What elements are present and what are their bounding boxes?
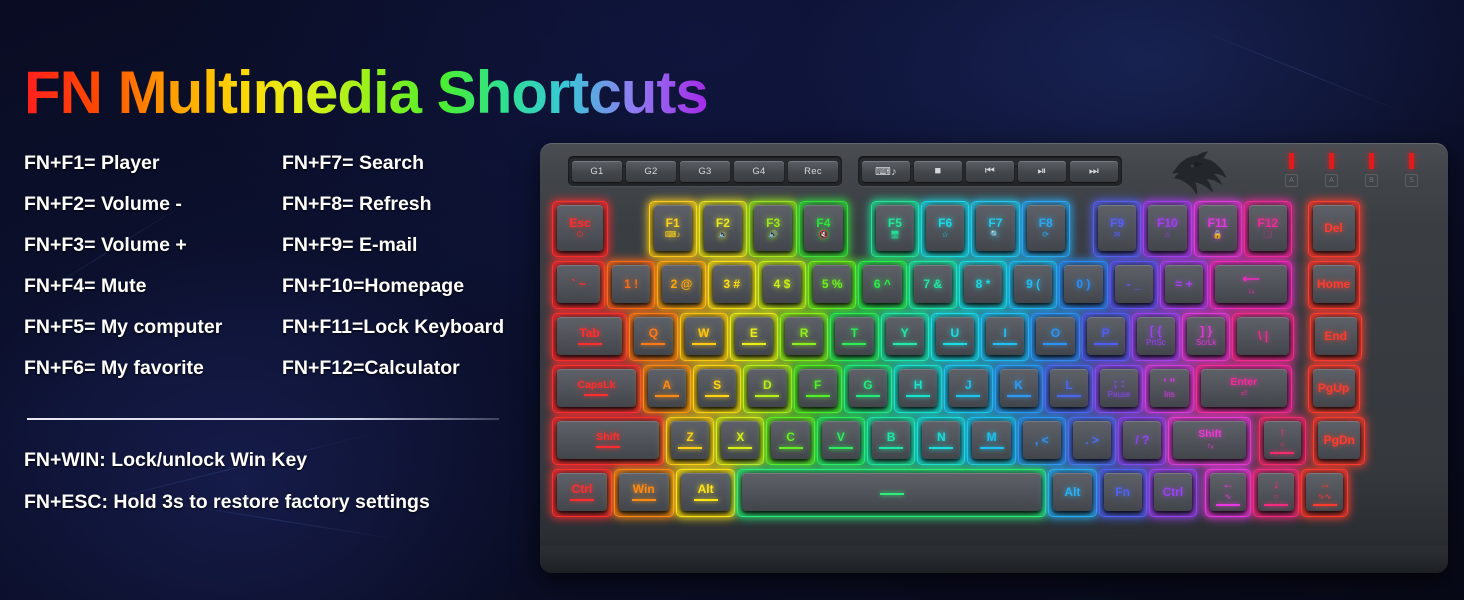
key-ctrl[interactable]: Ctrl xyxy=(552,469,612,517)
key-w[interactable]: W xyxy=(680,313,728,361)
key-z[interactable]: Z xyxy=(666,417,714,465)
scroll-lock-led: B xyxy=(1365,153,1378,187)
macro-key-g1[interactable]: G1 xyxy=(572,161,622,182)
home-row: CapsLkASDFGHJKL; :Pause' "InsEnter⏎PgUp xyxy=(552,365,1438,413)
key-h[interactable]: H xyxy=(894,365,942,413)
key-underline xyxy=(584,394,608,396)
key-label: W xyxy=(698,327,709,340)
key-sublabel: ∿∿ xyxy=(1318,493,1331,501)
shortcut-item: FN+F6= My favorite xyxy=(24,357,204,379)
number-row: ` ~1 !2 @3 #4 $5 %6 ^7 &8 *9 (0 )- _= +⟵… xyxy=(552,261,1438,309)
key-space[interactable]: . > xyxy=(1068,417,1116,465)
keycap: Alt xyxy=(681,473,731,511)
key-label: Shift xyxy=(1198,429,1221,440)
key-underline xyxy=(1094,343,1118,345)
led-label: B xyxy=(1365,174,1378,187)
keycap: E xyxy=(735,317,773,355)
key-underline xyxy=(1270,452,1294,454)
keycap: F10⌂ xyxy=(1148,205,1186,251)
key-fn[interactable]: Fn xyxy=(1099,469,1147,517)
key-f[interactable]: F xyxy=(794,365,842,413)
function-row: Esc⏻F1⌨♪F2🔉F3🔊F4🔇F5🖥F6☆F7🔍F8⟳F9✉F10⌂F11🔒… xyxy=(552,201,1438,257)
key-underline xyxy=(578,343,602,345)
key-enter[interactable]: Enter⏎ xyxy=(1196,365,1293,413)
keycap: A xyxy=(648,369,686,407)
key-label: F3 xyxy=(766,217,780,230)
key-f3[interactable]: F3🔊 xyxy=(749,201,797,257)
macro-key-cluster: G1G2G3G4Rec xyxy=(568,156,842,186)
key-label: D xyxy=(763,379,772,392)
key-sublabel: ☆ xyxy=(942,231,949,239)
key-label: 3 # xyxy=(723,278,740,291)
key-sublabel: 🔒 xyxy=(1213,231,1223,239)
key-underline xyxy=(1313,504,1337,506)
key-x[interactable]: X xyxy=(716,417,764,465)
macro-key-rec[interactable]: Rec xyxy=(788,161,838,182)
next-track-icon[interactable]: ⏭ xyxy=(1070,161,1118,182)
shortcut-row: FN+F6= My favorite FN+F12=Calculator xyxy=(24,357,544,398)
keycap: 6 ^ xyxy=(863,265,901,303)
key-space[interactable]: , < xyxy=(1018,417,1066,465)
key-t[interactable]: T xyxy=(830,313,878,361)
key-underline xyxy=(678,447,702,449)
key-home[interactable]: Home xyxy=(1308,261,1360,309)
keycap: 4 $ xyxy=(763,265,801,303)
key-l[interactable]: L xyxy=(1045,365,1093,413)
keycap: W xyxy=(685,317,723,355)
keycap: F11🔒 xyxy=(1199,205,1237,251)
key-label: L xyxy=(1065,379,1072,392)
keycap: N xyxy=(922,421,960,459)
key-0[interactable]: 0 ) xyxy=(1059,261,1107,309)
key-underline xyxy=(596,446,620,448)
shortcut-row: FN+F1= Player FN+F7= Search xyxy=(24,152,544,193)
key-label: I xyxy=(1003,327,1006,340)
keycap: Enter⏎ xyxy=(1201,369,1288,407)
key-alt[interactable]: Alt xyxy=(676,469,736,517)
key-sublabel: ⏎ xyxy=(1240,390,1247,398)
keycap: M xyxy=(972,421,1010,459)
key-m[interactable]: M xyxy=(967,417,1015,465)
key-label: Y xyxy=(901,327,909,340)
key-underline xyxy=(742,343,766,345)
key-s[interactable]: S xyxy=(693,365,741,413)
key-label: ↓ xyxy=(1273,478,1279,491)
key-f8[interactable]: F8⟳ xyxy=(1022,201,1070,257)
key-c[interactable]: C xyxy=(766,417,814,465)
keycap: F9✉ xyxy=(1098,205,1136,251)
key-label: Tab xyxy=(579,327,599,340)
key-label: Home xyxy=(1317,278,1350,291)
keycap: PgDn xyxy=(1318,421,1360,459)
key-label: ← xyxy=(1222,478,1234,491)
keycap: Z xyxy=(671,421,709,459)
keycap: F2🔉 xyxy=(704,205,742,251)
shift-row: ShiftZXCVBNM, <. >/ ?Shift↑ₓ↑○PgDn xyxy=(552,417,1438,465)
key-f9[interactable]: F9✉ xyxy=(1093,201,1141,257)
key-matrix: Esc⏻F1⌨♪F2🔉F3🔊F4🔇F5🖥F6☆F7🔍F8⟳F9✉F10⌂F11🔒… xyxy=(552,201,1438,543)
key-label: Alt xyxy=(698,483,714,496)
key-label: F1 xyxy=(666,217,680,230)
key-label: ↑ xyxy=(1279,426,1285,439)
key-label: Enter xyxy=(1230,377,1257,388)
key-capslk[interactable]: CapsLk xyxy=(552,365,641,413)
key-j[interactable]: J xyxy=(944,365,992,413)
keycap: Q xyxy=(634,317,672,355)
macro-key-g3[interactable]: G3 xyxy=(680,161,730,182)
keycap: Tab xyxy=(557,317,622,355)
shortcut-item: FN+F10=Homepage xyxy=(282,275,464,297)
keycap: R xyxy=(785,317,823,355)
key-label: 9 ( xyxy=(1026,278,1040,291)
key-f10[interactable]: F10⌂ xyxy=(1143,201,1191,257)
keycap: = + xyxy=(1165,265,1203,303)
key-underline xyxy=(1264,504,1288,506)
key-label: / ? xyxy=(1135,434,1149,447)
key-9[interactable]: 9 ( xyxy=(1009,261,1057,309)
key-label: K xyxy=(1014,379,1023,392)
key-u[interactable]: U xyxy=(931,313,979,361)
led-bar xyxy=(1369,153,1374,169)
dragon-logo xyxy=(1160,149,1252,197)
key-label: P xyxy=(1102,327,1110,340)
key-sublabel: Pause xyxy=(1108,391,1131,399)
key-label: [ { xyxy=(1150,325,1162,338)
key-b[interactable]: B xyxy=(867,417,915,465)
keycap: O xyxy=(1036,317,1074,355)
key-label: E xyxy=(750,327,758,340)
keycap: 0 ) xyxy=(1064,265,1102,303)
key-underline xyxy=(641,343,665,345)
key-sublabel: ∿ xyxy=(1225,493,1232,501)
key-label: Fn xyxy=(1115,486,1130,499)
keycap: S xyxy=(698,369,736,407)
key-k[interactable]: K xyxy=(995,365,1043,413)
key-pgdn[interactable]: PgDn xyxy=(1313,417,1365,465)
key-sublabel: ↑ₓ xyxy=(1207,442,1214,450)
key-underline xyxy=(993,343,1017,345)
key-1[interactable]: 1 ! xyxy=(607,261,655,309)
key-label: ; : xyxy=(1113,377,1124,390)
caps-lock-led: A xyxy=(1325,153,1338,187)
key-underline xyxy=(893,343,917,345)
keycap: V xyxy=(822,421,860,459)
key-space[interactable]: / ? xyxy=(1118,417,1166,465)
key-sublabel: ⌂ xyxy=(1165,231,1170,239)
shortcut-item: FN+F7= Search xyxy=(282,152,424,174)
key-d[interactable]: D xyxy=(743,365,791,413)
shortcut-item: FN+F9= E-mail xyxy=(282,234,417,256)
keycap: Win xyxy=(619,473,669,511)
key-label: H xyxy=(914,379,923,392)
key-label: F4 xyxy=(816,217,830,230)
keycap: Ctrl xyxy=(557,473,607,511)
keycap: ' "Ins xyxy=(1150,369,1188,407)
bottom-row: CtrlWinAltAltFnCtrl←∿↓○→∿∿ xyxy=(552,469,1438,517)
key-label: ` ~ xyxy=(571,278,585,291)
keycap: 9 ( xyxy=(1014,265,1052,303)
key-space[interactable]: ] }ScrLk xyxy=(1182,313,1230,361)
key-label: Ctrl xyxy=(1163,486,1184,499)
key-f5[interactable]: F5🖥 xyxy=(871,201,919,257)
key-y[interactable]: Y xyxy=(881,313,929,361)
key-f7[interactable]: F7🔍 xyxy=(971,201,1019,257)
key-underline xyxy=(692,343,716,345)
key-underline xyxy=(956,395,980,397)
key-space[interactable]: [ {PrtSc xyxy=(1132,313,1180,361)
keycap: \ | xyxy=(1237,317,1289,355)
keycap: ; :Pause xyxy=(1100,369,1138,407)
key-label: R xyxy=(800,327,809,340)
key-f2[interactable]: F2🔉 xyxy=(699,201,747,257)
keycap: ` ~ xyxy=(557,265,600,303)
key-label: A xyxy=(663,379,672,392)
key-label: X xyxy=(736,431,744,444)
key-g[interactable]: G xyxy=(844,365,892,413)
key-sublabel: ⏻ xyxy=(577,231,583,239)
led-bar xyxy=(1409,153,1414,169)
key-sublabel: ○ xyxy=(1280,441,1285,449)
keycap: . > xyxy=(1073,421,1111,459)
key-underline xyxy=(1216,504,1240,506)
key-a[interactable]: A xyxy=(643,365,691,413)
keycap: ] }ScrLk xyxy=(1187,317,1225,355)
key-underline xyxy=(779,447,803,449)
shortcut-item: FN+F5= My computer xyxy=(24,316,222,338)
keycap: F12🗔 xyxy=(1249,205,1287,251)
key-shift[interactable]: Shift↑ₓ xyxy=(1168,417,1251,465)
keycap: X xyxy=(721,421,759,459)
key-label: S xyxy=(713,379,721,392)
key-tab[interactable]: Tab xyxy=(552,313,627,361)
keycap: H xyxy=(899,369,937,407)
key-underline xyxy=(943,343,967,345)
keycap: Esc⏻ xyxy=(557,205,603,251)
led-label: A xyxy=(1325,174,1338,187)
key-underline xyxy=(906,395,930,397)
key-label: - _ xyxy=(1127,278,1141,291)
key-label: → xyxy=(1319,478,1331,491)
keycap: F1⌨♪ xyxy=(654,205,692,251)
key-sublabel: PrtSc xyxy=(1146,339,1166,347)
num-lock-led: A xyxy=(1285,153,1298,187)
keycap: 7 & xyxy=(914,265,952,303)
shortcut-list: FN+F1= Player FN+F7= Search FN+F2= Volum… xyxy=(24,152,544,398)
keycap: F8⟳ xyxy=(1027,205,1065,251)
key-3[interactable]: 3 # xyxy=(708,261,756,309)
keycap: F6☆ xyxy=(926,205,964,251)
key-pgup[interactable]: PgUp xyxy=(1308,365,1360,413)
key-label: 1 ! xyxy=(624,278,638,291)
key-label: Del xyxy=(1324,222,1343,235)
key-q[interactable]: Q xyxy=(629,313,677,361)
key-8[interactable]: 8 * xyxy=(959,261,1007,309)
key-space[interactable]: ←∿ xyxy=(1205,469,1251,517)
key-label: J xyxy=(965,379,972,392)
key-label: 4 $ xyxy=(774,278,791,291)
key-underline xyxy=(929,447,953,449)
key-sublabel: Ins xyxy=(1164,391,1175,399)
key-f1[interactable]: F1⌨♪ xyxy=(649,201,697,257)
key-sublabel: 🔊 xyxy=(768,231,778,239)
key-label: F2 xyxy=(716,217,730,230)
led-label: S xyxy=(1405,174,1418,187)
keycap: I xyxy=(986,317,1024,355)
section-divider xyxy=(27,418,499,420)
key-sublabel: ○ xyxy=(1274,493,1279,501)
key-underline xyxy=(694,499,718,501)
keycap: Shift↑ₓ xyxy=(1173,421,1246,459)
key-p[interactable]: P xyxy=(1082,313,1130,361)
key-esc[interactable]: Esc⏻ xyxy=(552,201,608,257)
win-lock-led: S xyxy=(1405,153,1418,187)
key-f12[interactable]: F12🗔 xyxy=(1244,201,1292,257)
key-o[interactable]: O xyxy=(1031,313,1079,361)
key-underline xyxy=(705,395,729,397)
shortcut-item: FN+F3= Volume + xyxy=(24,234,187,256)
key-underline xyxy=(806,395,830,397)
keycap: B xyxy=(872,421,910,459)
key-space[interactable]: \ | xyxy=(1232,313,1294,361)
macro-key-g2[interactable]: G2 xyxy=(626,161,676,182)
key-label: V xyxy=(837,431,845,444)
keycap: Del xyxy=(1313,205,1355,251)
keycap: P xyxy=(1087,317,1125,355)
key-underline xyxy=(879,447,903,449)
keycap: F xyxy=(799,369,837,407)
key-label: F10 xyxy=(1157,217,1178,230)
keycap: Fn xyxy=(1104,473,1142,511)
key-del[interactable]: Del xyxy=(1308,201,1360,257)
media-player-icon[interactable]: ⌨♪ xyxy=(862,161,910,182)
macro-key-g4[interactable]: G4 xyxy=(734,161,784,182)
previous-track-icon[interactable]: ⏮ xyxy=(966,161,1014,182)
key-space[interactable]: = + xyxy=(1160,261,1208,309)
key-sublabel: 🔍 xyxy=(990,231,1000,239)
key-shift[interactable]: Shift xyxy=(552,417,664,465)
keycap: , < xyxy=(1023,421,1061,459)
keycap: ←∿ xyxy=(1210,473,1246,511)
shortcut-item: FN+F11=Lock Keyboard xyxy=(282,316,504,338)
key-label: End xyxy=(1324,330,1347,343)
key-win[interactable]: Win xyxy=(614,469,674,517)
key-space[interactable]: ` ~ xyxy=(552,261,605,309)
shortcut-item: FN+F8= Refresh xyxy=(282,193,432,215)
key-space[interactable]: ↓○ xyxy=(1253,469,1299,517)
stop-icon[interactable]: ■ xyxy=(914,161,962,182)
keycap: [ {PrtSc xyxy=(1137,317,1175,355)
key-label: M xyxy=(987,431,997,444)
keycap: - _ xyxy=(1115,265,1153,303)
keycap: F4🔇 xyxy=(804,205,842,251)
keycap: Ctrl xyxy=(1154,473,1192,511)
key-4[interactable]: 4 $ xyxy=(758,261,806,309)
key-n[interactable]: N xyxy=(917,417,965,465)
key-space[interactable]: ⟵↓ₓ xyxy=(1210,261,1292,309)
key-end[interactable]: End xyxy=(1310,313,1362,361)
key-underline xyxy=(1057,395,1081,397)
shortcut-item: FN+F12=Calculator xyxy=(282,357,460,379)
key-space[interactable]: ↑○ xyxy=(1259,417,1305,465)
keycap: PgUp xyxy=(1313,369,1355,407)
keyboard-top-bar: G1G2G3G4Rec ⌨♪■⏮⏯⏭ AABS xyxy=(540,143,1448,199)
key-label: F6 xyxy=(938,217,952,230)
keycap: F7🔍 xyxy=(976,205,1014,251)
key-i[interactable]: I xyxy=(981,313,1029,361)
play-pause-icon[interactable]: ⏯ xyxy=(1018,161,1066,182)
key-underline xyxy=(755,395,779,397)
key-ctrl[interactable]: Ctrl xyxy=(1149,469,1197,517)
shortcut-row: FN+F3= Volume + FN+F9= E-mail xyxy=(24,234,544,275)
keycap: Alt xyxy=(1053,473,1091,511)
key-6[interactable]: 6 ^ xyxy=(858,261,906,309)
key-sublabel: 🖥 xyxy=(890,231,900,239)
key-f11[interactable]: F11🔒 xyxy=(1194,201,1242,257)
media-key-cluster: ⌨♪■⏮⏯⏭ xyxy=(858,156,1122,186)
key-space[interactable]: →∿∿ xyxy=(1301,469,1347,517)
key-sublabel: 🔉 xyxy=(718,231,728,239)
keycap: U xyxy=(936,317,974,355)
key-space[interactable]: - _ xyxy=(1110,261,1158,309)
key-alt[interactable]: Alt xyxy=(1048,469,1096,517)
key-e[interactable]: E xyxy=(730,313,778,361)
keyboard: G1G2G3G4Rec ⌨♪■⏮⏯⏭ AABS Esc⏻F1⌨♪F2🔉F3🔊F4… xyxy=(540,143,1448,573)
shortcut-item: FN+F1= Player xyxy=(24,152,160,174)
keycap: Shift xyxy=(557,421,659,459)
key-5[interactable]: 5 % xyxy=(808,261,856,309)
shortcut-row: FN+F4= Mute FN+F10=Homepage xyxy=(24,275,544,316)
led-bar xyxy=(1329,153,1334,169)
key-r[interactable]: R xyxy=(780,313,828,361)
key-label: . > xyxy=(1085,434,1099,447)
keycap: ⟵↓ₓ xyxy=(1215,265,1287,303)
keycap: End xyxy=(1315,317,1357,355)
keycap: T xyxy=(835,317,873,355)
keycap: G xyxy=(849,369,887,407)
key-2[interactable]: 2 @ xyxy=(657,261,705,309)
key-label: = + xyxy=(1175,278,1192,291)
key-space[interactable]: ; :Pause xyxy=(1095,365,1143,413)
key-f4[interactable]: F4🔇 xyxy=(799,201,847,257)
led-bar xyxy=(1289,153,1294,169)
key-underline xyxy=(880,493,904,495)
key-7[interactable]: 7 & xyxy=(909,261,957,309)
key-f6[interactable]: F6☆ xyxy=(921,201,969,257)
keycap: / ? xyxy=(1123,421,1161,459)
key-label: 5 % xyxy=(822,278,843,291)
key-underline xyxy=(632,499,656,501)
keycap: J xyxy=(949,369,987,407)
keycap: 2 @ xyxy=(662,265,700,303)
key-underline xyxy=(829,447,853,449)
key-v[interactable]: V xyxy=(817,417,865,465)
key-sublabel: ⌨♪ xyxy=(665,231,681,239)
key-space[interactable] xyxy=(737,469,1046,517)
led-label: A xyxy=(1285,174,1298,187)
key-label: 0 ) xyxy=(1076,278,1090,291)
key-space[interactable]: ' "Ins xyxy=(1145,365,1193,413)
promo-banner: FN Multimedia Shortcuts FN+F1= Player FN… xyxy=(0,0,1464,600)
shortcut-item: FN+F4= Mute xyxy=(24,275,146,297)
key-underline xyxy=(856,395,880,397)
key-label: U xyxy=(951,327,960,340)
key-sublabel: ⟳ xyxy=(1042,231,1049,239)
key-label: 7 & xyxy=(923,278,942,291)
key-label: C xyxy=(786,431,795,444)
key-underline xyxy=(570,499,594,501)
key-label: \ | xyxy=(1258,330,1268,343)
keycap: F5🖥 xyxy=(876,205,914,251)
